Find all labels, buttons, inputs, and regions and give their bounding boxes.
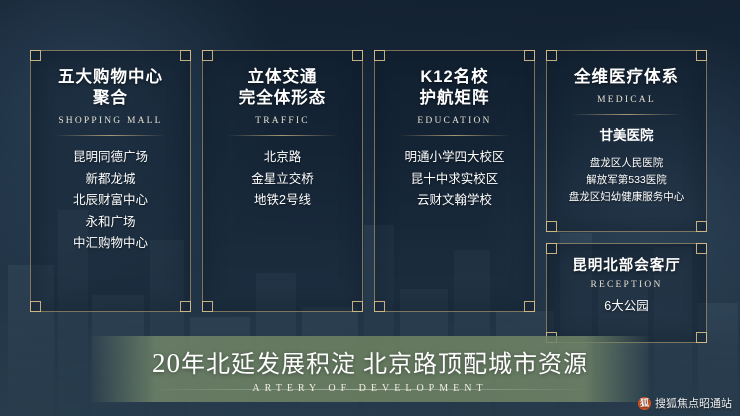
card-subtitle: TRAFFIC	[211, 116, 354, 126]
corner-marker-icon	[30, 301, 41, 312]
banner-text: 年北延发展积淀 北京路顶配城市资源	[181, 352, 588, 378]
card-title: 五大购物中心 聚合	[39, 67, 182, 109]
list-item: 盘龙区妇幼健康服务中心	[555, 189, 698, 206]
list-item: 永和广场	[39, 212, 182, 234]
card-column-1: 五大购物中心 聚合 SHOPPING MALL 昆明同德广场 新都龙城 北辰财富…	[30, 50, 191, 312]
card-item-list: 北京路 金星立交桥 地铁2号线	[211, 147, 354, 212]
corner-marker-icon	[696, 221, 707, 232]
card-title: 立体交通 完全体形态	[211, 67, 354, 109]
list-item: 6大公园	[555, 296, 698, 318]
corner-marker-icon	[352, 50, 363, 61]
sohu-logo-icon: 狐	[638, 397, 651, 410]
list-item: 盘龙区人民医院	[555, 155, 698, 172]
corner-marker-icon	[374, 301, 385, 312]
card-reception: 昆明北部会客厅 RECEPTION 6大公园	[546, 243, 707, 343]
bottom-banner: 20年北延发展积淀 北京路顶配城市资源 ARTERY OF DEVELOPMEN…	[88, 336, 652, 402]
slide-canvas: 五大购物中心 聚合 SHOPPING MALL 昆明同德广场 新都龙城 北辰财富…	[0, 0, 740, 416]
corner-marker-icon	[352, 301, 363, 312]
card-subtitle: RECEPTION	[555, 280, 698, 290]
card-title: K12名校 护航矩阵	[383, 67, 526, 109]
corner-marker-icon	[696, 332, 707, 343]
list-item: 中汇购物中心	[39, 233, 182, 255]
card-highlight: 甘美医院	[555, 124, 698, 144]
card-subtitle: EDUCATION	[383, 116, 526, 126]
card-traffic: 立体交通 完全体形态 TRAFFIC 北京路 金星立交桥 地铁2号线	[202, 50, 363, 312]
card-title: 全维医疗体系	[555, 67, 698, 88]
corner-marker-icon	[180, 50, 191, 61]
card-divider	[399, 135, 511, 136]
corner-marker-icon	[524, 301, 535, 312]
card-item-list: 明通小学四大校区 昆十中求实校区 云财文翰学校	[383, 147, 526, 212]
card-title: 昆明北部会客厅	[555, 257, 698, 276]
list-item: 明通小学四大校区	[383, 147, 526, 169]
list-item: 金星立交桥	[211, 169, 354, 191]
corner-marker-icon	[202, 301, 213, 312]
info-card-row: 五大购物中心 聚合 SHOPPING MALL 昆明同德广场 新都龙城 北辰财富…	[30, 50, 710, 343]
card-subtitle: SHOPPING MALL	[39, 116, 182, 126]
card-column-4: 全维医疗体系 MEDICAL 甘美医院 盘龙区人民医院 解放军第533医院 盘龙…	[546, 50, 707, 343]
list-item: 地铁2号线	[211, 190, 354, 212]
card-item-list: 盘龙区人民医院 解放军第533医院 盘龙区妇幼健康服务中心	[555, 155, 698, 206]
corner-marker-icon	[546, 221, 557, 232]
corner-marker-icon	[30, 50, 41, 61]
card-medical: 全维医疗体系 MEDICAL 甘美医院 盘龙区人民医院 解放军第533医院 盘龙…	[546, 50, 707, 232]
corner-marker-icon	[374, 50, 385, 61]
watermark-text: 搜狐焦点昭通站	[655, 395, 732, 411]
card-divider	[55, 135, 167, 136]
list-item: 昆十中求实校区	[383, 169, 526, 191]
list-item: 昆明同德广场	[39, 147, 182, 169]
banner-rule	[148, 389, 592, 390]
corner-marker-icon	[180, 301, 191, 312]
card-column-3: K12名校 护航矩阵 EDUCATION 明通小学四大校区 昆十中求实校区 云财…	[374, 50, 535, 312]
corner-marker-icon	[696, 50, 707, 61]
card-item-list: 昆明同德广场 新都龙城 北辰财富中心 永和广场 中汇购物中心	[39, 147, 182, 255]
corner-marker-icon	[696, 243, 707, 254]
list-item: 解放军第533医院	[555, 172, 698, 189]
card-subtitle: MEDICAL	[555, 95, 698, 105]
card-divider	[227, 135, 339, 136]
corner-marker-icon	[524, 50, 535, 61]
card-divider	[571, 114, 683, 115]
corner-marker-icon	[546, 50, 557, 61]
watermark: 狐 搜狐焦点昭通站	[638, 395, 732, 411]
card-column-2: 立体交通 完全体形态 TRAFFIC 北京路 金星立交桥 地铁2号线	[202, 50, 363, 312]
list-item: 云财文翰学校	[383, 190, 526, 212]
banner-main-text: 20年北延发展积淀 北京路顶配城市资源	[152, 344, 588, 379]
card-shopping-mall: 五大购物中心 聚合 SHOPPING MALL 昆明同德广场 新都龙城 北辰财富…	[30, 50, 191, 312]
banner-number: 20	[152, 348, 181, 378]
corner-marker-icon	[202, 50, 213, 61]
list-item: 新都龙城	[39, 169, 182, 191]
card-education: K12名校 护航矩阵 EDUCATION 明通小学四大校区 昆十中求实校区 云财…	[374, 50, 535, 312]
corner-marker-icon	[546, 243, 557, 254]
card-item-list: 6大公园	[555, 296, 698, 318]
list-item: 北京路	[211, 147, 354, 169]
list-item: 北辰财富中心	[39, 190, 182, 212]
